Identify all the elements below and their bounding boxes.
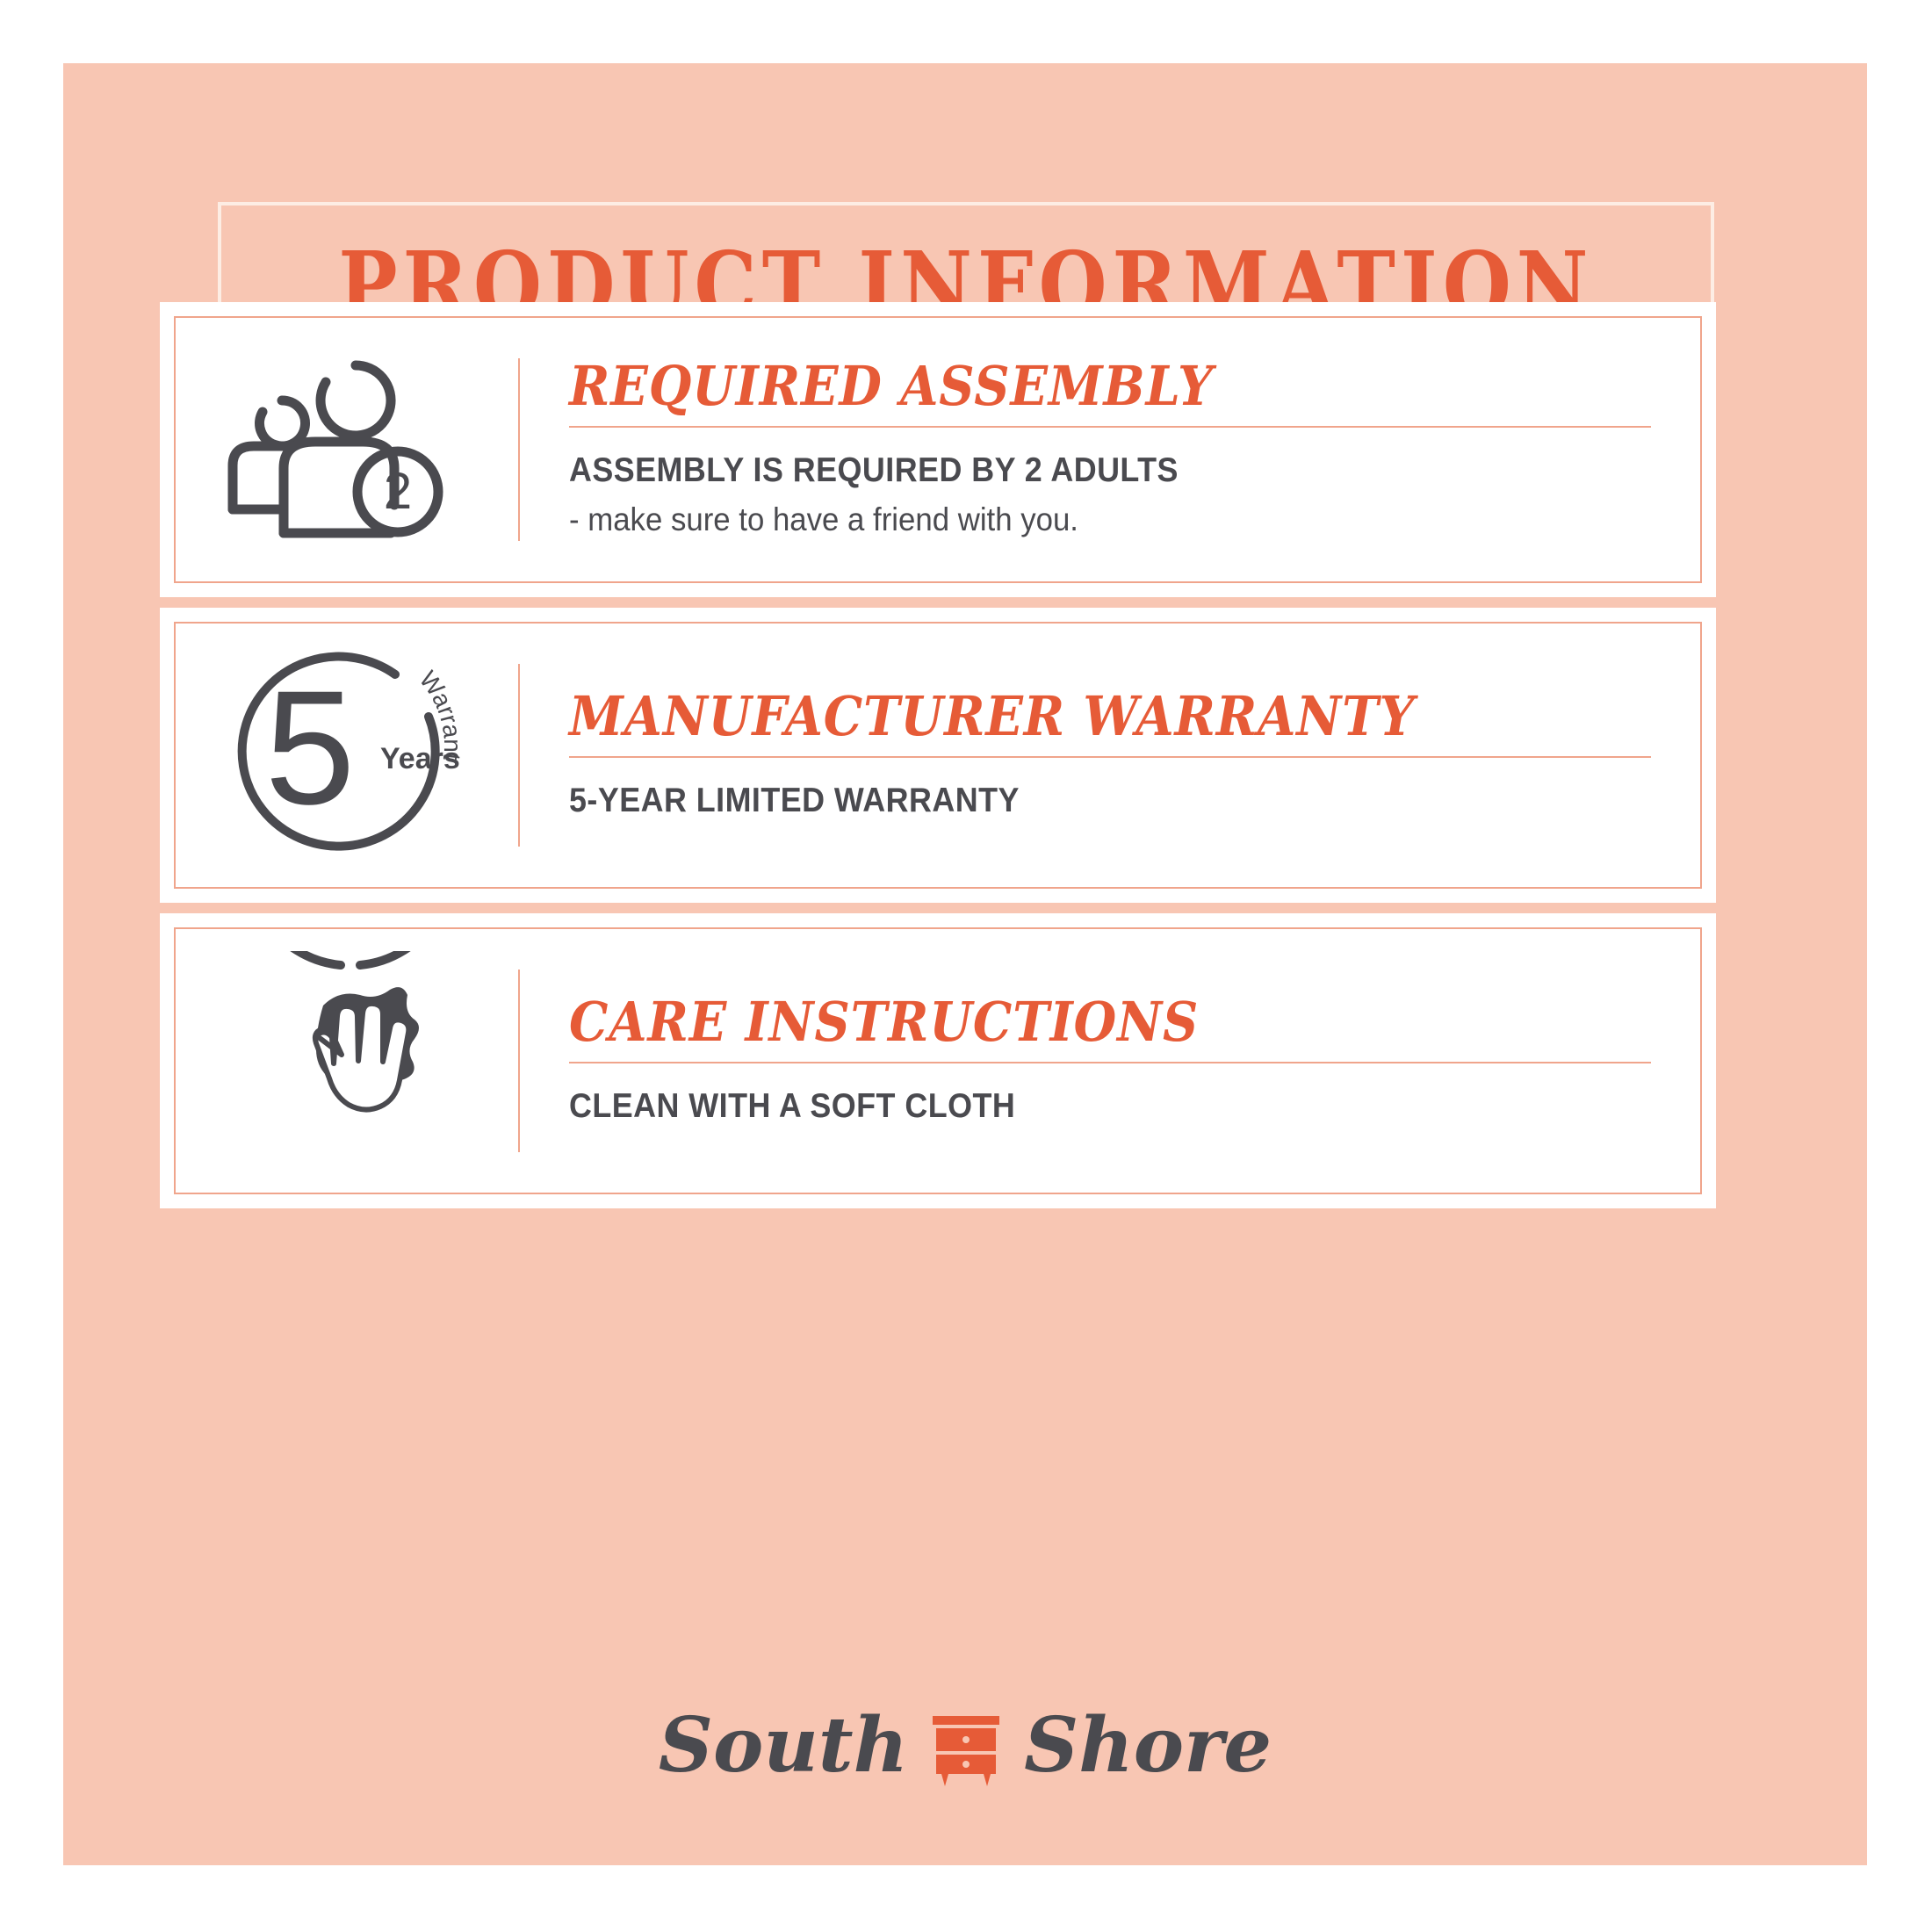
hand-wiping-cloth-icon xyxy=(228,951,465,1171)
assembly-icon-column: 2 xyxy=(176,318,518,581)
card-inner-border: 2 REQUIRED ASSEMBLY ASSEMBLY IS REQUIRED… xyxy=(174,316,1702,583)
two-people-badge-2-icon: 2 xyxy=(215,349,479,551)
care-icon-column xyxy=(176,929,518,1193)
card-heading-care: CARE INSTRUCTIONS xyxy=(569,994,1543,1049)
assembly-text-column: REQUIRED ASSEMBLY ASSEMBLY IS REQUIRED B… xyxy=(520,358,1700,541)
card-inner-border: 5 Years Warranty MANUFACTURER WARRANTY 5… xyxy=(174,622,1702,889)
brand-logo: South Shore xyxy=(63,1704,1867,1788)
card-required-assembly: 2 REQUIRED ASSEMBLY ASSEMBLY IS REQUIRED… xyxy=(160,302,1716,597)
warranty-icon-column: 5 Years Warranty xyxy=(176,624,518,887)
heading-rule xyxy=(569,426,1651,428)
warranty-body-strong: 5-YEAR LIMITED WARRANTY xyxy=(569,781,1564,822)
care-text-column: CARE INSTRUCTIONS CLEAN WITH A SOFT CLOT… xyxy=(520,994,1700,1128)
care-body-strong: CLEAN WITH A SOFT CLOTH xyxy=(569,1086,1564,1128)
logo-word-south: South xyxy=(659,1708,908,1784)
heading-rule xyxy=(569,1062,1651,1063)
logo-word-shore: Shore xyxy=(1024,1708,1272,1784)
pink-background-panel: PRODUCT INFORMATION xyxy=(63,63,1867,1865)
assembly-body-strong: ASSEMBLY IS REQUIRED BY 2 ADULTS xyxy=(569,451,1564,492)
warranty-number: 5 xyxy=(265,658,356,839)
card-manufacturer-warranty: 5 Years Warranty MANUFACTURER WARRANTY 5… xyxy=(160,608,1716,903)
card-heading-assembly: REQUIRED ASSEMBLY xyxy=(569,358,1543,414)
card-heading-warranty: MANUFACTURER WARRANTY xyxy=(569,688,1543,744)
warranty-text-column: MANUFACTURER WARRANTY 5-YEAR LIMITED WAR… xyxy=(520,688,1700,822)
card-inner-border: CARE INSTRUCTIONS CLEAN WITH A SOFT CLOT… xyxy=(174,927,1702,1194)
nightstand-dresser-icon xyxy=(924,1704,1008,1788)
five-years-warranty-badge-icon: 5 Years Warranty xyxy=(215,645,479,865)
heading-rule xyxy=(569,756,1651,758)
assembly-badge-count: 2 xyxy=(384,463,412,520)
card-care-instructions: CARE INSTRUCTIONS CLEAN WITH A SOFT CLOT… xyxy=(160,913,1716,1208)
assembly-body-sub: - make sure to have a friend with you. xyxy=(569,499,1586,541)
